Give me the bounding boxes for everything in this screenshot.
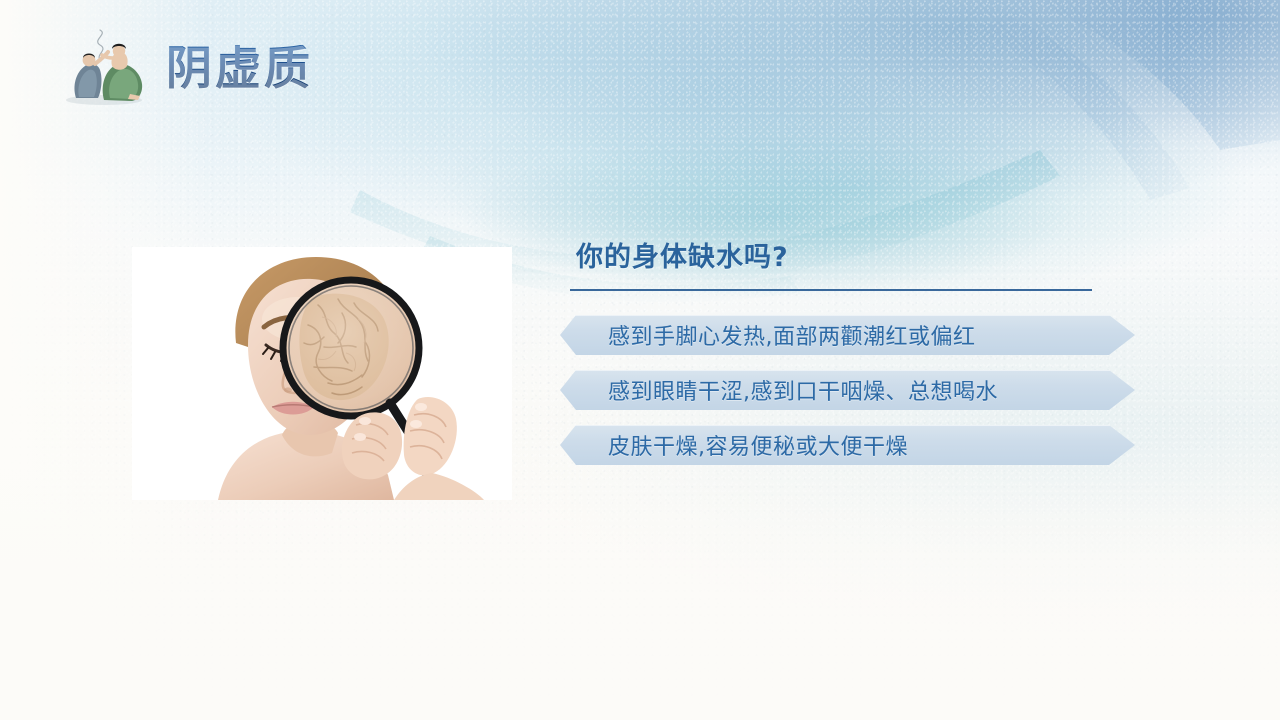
scholars-illustration-svg bbox=[52, 24, 158, 112]
heading-divider bbox=[570, 289, 1092, 291]
slide-canvas: 阴虚质 bbox=[0, 0, 1280, 720]
symptom-text: 皮肤干燥,容易便秘或大便干燥 bbox=[608, 429, 908, 461]
page-title: 阴虚质 bbox=[166, 45, 313, 91]
list-item[interactable]: 感到眼睛干涩,感到口干咽燥、总想喝水 bbox=[560, 370, 1135, 410]
list-item[interactable]: 皮肤干燥,容易便秘或大便干燥 bbox=[560, 425, 1135, 465]
symptom-text: 感到手脚心发热,面部两颧潮红或偏红 bbox=[608, 319, 976, 351]
slide-header: 阴虚质 bbox=[52, 22, 313, 114]
section-heading: 你的身体缺水吗? bbox=[576, 242, 1160, 273]
content-column: 你的身体缺水吗? 感到手脚心发热,面部两颧潮红或偏红 感到眼睛干涩,感到口干咽燥… bbox=[560, 242, 1160, 465]
skin-photo bbox=[132, 247, 512, 500]
symptom-text: 感到眼睛干涩,感到口干咽燥、总想喝水 bbox=[608, 374, 998, 406]
list-item[interactable]: 感到手脚心发热,面部两颧潮红或偏红 bbox=[560, 315, 1135, 355]
skin-photo-illustration bbox=[132, 247, 512, 500]
symptom-list: 感到手脚心发热,面部两颧潮红或偏红 感到眼睛干涩,感到口干咽燥、总想喝水 皮肤干… bbox=[560, 315, 1160, 465]
scholars-illustration-icon bbox=[52, 24, 158, 112]
